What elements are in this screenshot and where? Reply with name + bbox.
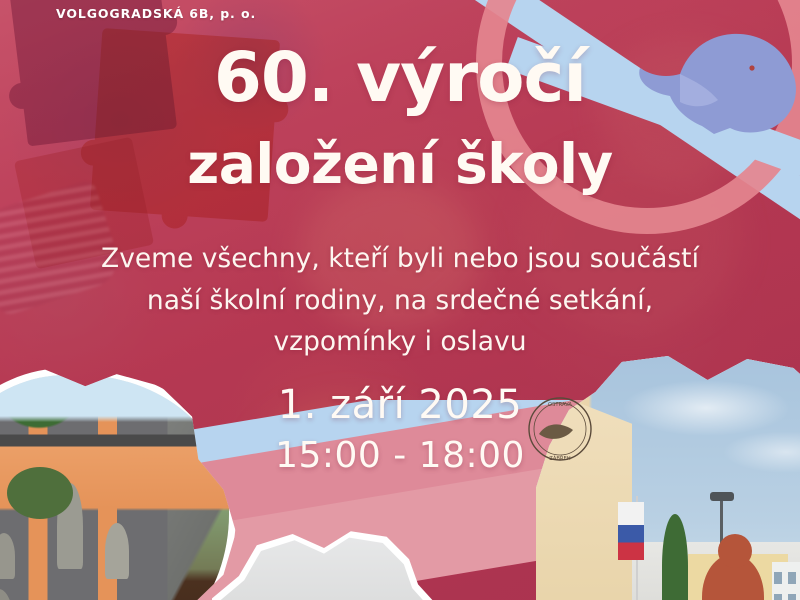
headline-secondary: založení školy [0, 137, 800, 192]
event-poster: OSTRAVA ZÁBŘEH VOLGOGRADSKÁ 6B, p. o. 60… [0, 0, 800, 600]
organization-address: VOLGOGRADSKÁ 6B, p. o. [56, 6, 256, 21]
invitation-line-2: naší školní rodiny, na srdečné setkání, [60, 282, 740, 320]
school-windows-row [774, 572, 800, 584]
garden-stone-2 [105, 523, 129, 579]
event-date: 1. září 2025 [0, 382, 800, 428]
invitation-body: Zveme všechny, kteří byli nebo jsou souč… [60, 240, 740, 365]
invitation-line-3: vzpomínky i oslavu [60, 323, 740, 361]
headline-primary: 60. výročí [0, 44, 800, 113]
statue-head [718, 534, 752, 568]
event-time: 15:00 - 18:00 [0, 435, 800, 476]
lamp-head-icon [710, 492, 734, 501]
school-windows-row-2 [774, 594, 800, 600]
flag-icon [618, 502, 644, 560]
invitation-line-1: Zveme všechny, kteří byli nebo jsou souč… [60, 240, 740, 278]
